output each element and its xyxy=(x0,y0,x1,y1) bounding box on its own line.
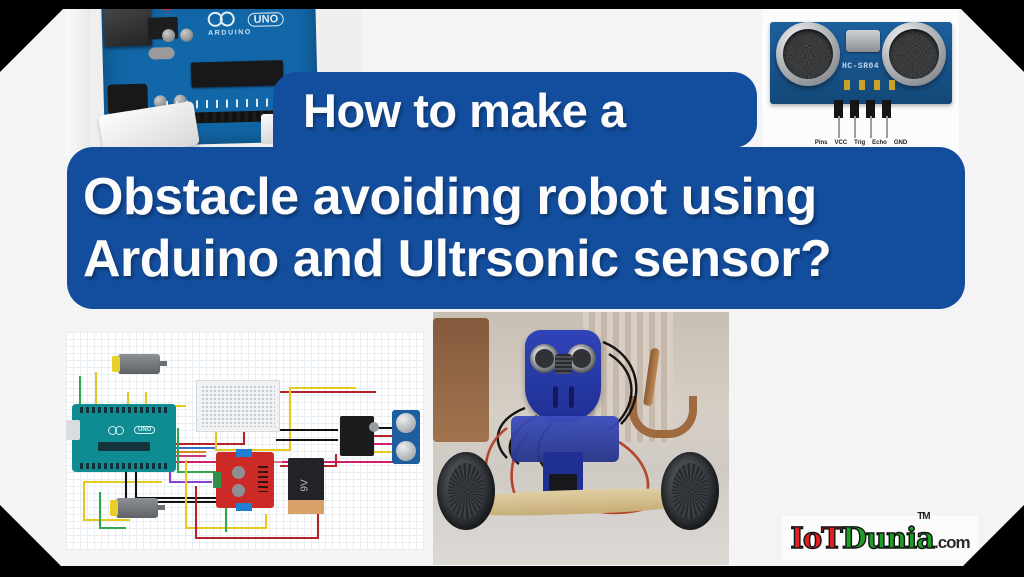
pin-label-vcc: VCC xyxy=(834,140,847,146)
driver-terminal xyxy=(236,449,252,457)
sensor-crystal xyxy=(555,354,572,374)
title-line-2: Obstacle avoiding robot using xyxy=(83,167,965,227)
diagram-arduino-board: UNO xyxy=(72,404,176,472)
crystal-oscillator xyxy=(148,47,174,60)
pin-label-gnd: GND xyxy=(894,140,907,146)
battery-label: 9V xyxy=(300,479,311,491)
mount-slot xyxy=(553,386,558,408)
sensor-model-label: HC-SR04 xyxy=(842,62,879,71)
diagram-servo-motor xyxy=(340,416,374,456)
sensor-pcb: HC-SR04 xyxy=(770,22,952,104)
driver-heatsink xyxy=(232,466,245,479)
diagram-breadboard xyxy=(196,380,280,432)
arduino-infinity-logo-icon xyxy=(208,11,242,27)
frame-bar-bottom xyxy=(0,566,1024,577)
transducer-left-icon xyxy=(776,22,840,86)
logo-part-dunia: Dunia xyxy=(842,521,934,555)
board-brand-label: ARDUINO xyxy=(208,29,252,37)
logo-text: IoTDunia.com TM xyxy=(790,524,969,553)
frame-bar-top xyxy=(0,0,1024,9)
crystal-oscillator xyxy=(846,30,880,52)
pin-label-pins: Pins xyxy=(815,140,828,146)
capacitor-icon xyxy=(162,29,175,42)
mount-slot xyxy=(569,386,574,408)
diagram-ultrasonic-sensor xyxy=(392,410,420,464)
diagram-header-bottom xyxy=(80,463,168,469)
driver-pin-header xyxy=(258,466,268,492)
driver-terminal xyxy=(236,503,252,511)
sensor-pin-labels: Pins VCC Trig Echo GND xyxy=(770,140,952,146)
title-stack: Obstacle avoiding robot using Arduino an… xyxy=(67,147,965,309)
logo-part-iot: IoT xyxy=(790,521,842,555)
title-banner-main: Obstacle avoiding robot using Arduino an… xyxy=(67,147,965,309)
diagram-battery: 9V xyxy=(288,458,324,514)
robot-wheel-left xyxy=(437,452,495,530)
corner-decoration-bottom-right xyxy=(952,505,1024,577)
brand-logo[interactable]: IoTDunia.com TM xyxy=(782,516,978,560)
corner-decoration-top-right xyxy=(952,0,1024,72)
diagram-board-label: UNO xyxy=(134,426,155,434)
robot-sensor-mount xyxy=(525,330,601,422)
pin-label-echo: Echo xyxy=(872,140,887,146)
corner-decoration-bottom-left xyxy=(0,505,72,577)
robot-photo xyxy=(433,312,729,565)
diagram-dc-motor-bottom xyxy=(116,498,158,518)
arduino-infinity-logo-icon xyxy=(108,426,130,435)
usb-port-icon xyxy=(103,8,152,47)
robot-wheel-right xyxy=(661,452,719,530)
diagram-chip xyxy=(98,442,150,451)
ultrasonic-sensor-photo: HC-SR04 Pins VCC Trig Echo GND xyxy=(762,6,959,158)
corner-decoration-top-left xyxy=(0,0,72,72)
poster-canvas: UNO ARDUINO HC-SR04 Pins VCC Trig Echo G… xyxy=(0,0,1024,577)
diagram-header-top xyxy=(80,407,168,413)
title-banner-line1: How to make a xyxy=(273,72,757,148)
title-line-1: How to make a xyxy=(273,83,626,138)
diagram-motor-driver xyxy=(216,452,274,508)
board-model-label: UNO xyxy=(248,12,285,27)
atmega-chip xyxy=(191,60,284,87)
pin-legs-icon xyxy=(838,116,894,138)
diagram-dc-motor-top xyxy=(118,354,160,374)
driver-heatsink xyxy=(232,484,245,497)
title-line-3: Arduino and Ultrsonic sensor? xyxy=(83,229,965,289)
pin-label-trig: Trig xyxy=(854,140,865,146)
capacitor-icon xyxy=(180,28,193,41)
circuit-diagram-image: UNO 9V xyxy=(66,332,424,550)
driver-power-terminal xyxy=(213,472,221,488)
diagram-usb-port-icon xyxy=(66,420,80,440)
solder-pads xyxy=(844,80,904,90)
trademark-symbol: TM xyxy=(917,512,929,522)
transducer-right-icon xyxy=(882,22,946,86)
